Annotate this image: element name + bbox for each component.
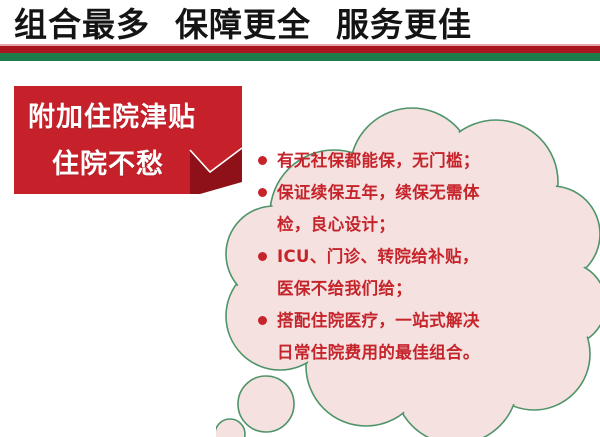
highlight-tag: 附加住院津贴 住院不愁 [14, 86, 242, 194]
list-item-line: 保证续保五年，续保无需体 [274, 177, 558, 209]
page-title: 组合最多 保障更全 服务更佳 [14, 3, 584, 46]
bullet-dot-icon [258, 316, 267, 325]
list-item-line: 有无社保都能保，无门槛； [274, 145, 558, 177]
list-item-line: 日常住院费用的最佳组合。 [274, 337, 558, 369]
list-item: 搭配住院医疗，一站式解决 日常住院费用的最佳组合。 [258, 305, 558, 369]
poster-canvas: 组合最多 保障更全 服务更佳 [0, 0, 600, 437]
list-item: ICU、门诊、转院给补贴， 医保不给我们给； [258, 241, 558, 305]
highlight-tag-line-2: 住院不愁 [52, 142, 164, 181]
bullet-dot-icon [258, 188, 267, 197]
list-item-line: 医保不给我们给； [274, 273, 558, 305]
list-item: 保证续保五年，续保无需体 检，良心设计； [258, 177, 558, 241]
list-item-line: 搭配住院医疗，一站式解决 [274, 305, 558, 337]
divider-green [0, 53, 600, 61]
list-item-line: 检，良心设计； [274, 209, 558, 241]
list-item-line: ICU、门诊、转院给补贴， [274, 241, 558, 273]
bullet-dot-icon [258, 252, 267, 261]
divider-red [0, 46, 600, 53]
highlight-tag-line-1: 附加住院津贴 [28, 95, 196, 134]
list-item: 有无社保都能保，无门槛； [258, 145, 558, 177]
bullet-dot-icon [258, 156, 267, 165]
benefit-list: 有无社保都能保，无门槛； 保证续保五年，续保无需体 检，良心设计； ICU、门诊… [258, 145, 558, 369]
